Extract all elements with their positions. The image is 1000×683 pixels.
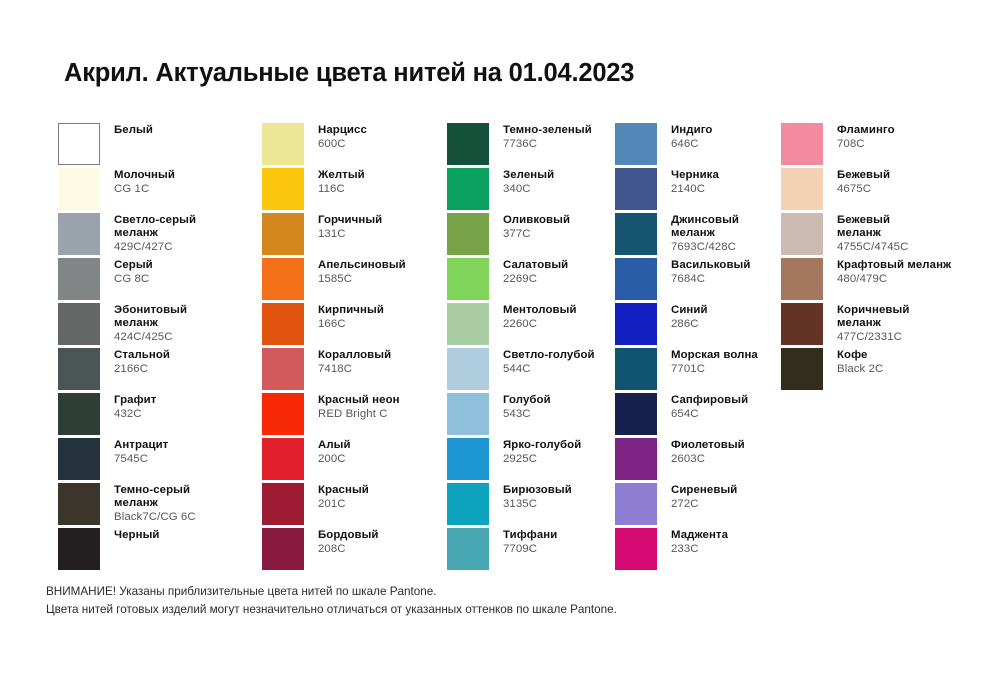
swatch-pantone-code: 4675C (837, 183, 890, 196)
swatch-name: Сиреневый (671, 484, 737, 497)
swatch-pantone-code: 340C (503, 183, 554, 196)
swatch-name: Салатовый (503, 259, 568, 272)
swatch-row[interactable]: Синий286C (615, 303, 781, 348)
swatch-name: Стальной (114, 349, 170, 362)
swatch-name: Васильковый (671, 259, 750, 272)
swatch-pantone-code: CG 1C (114, 183, 175, 196)
swatch-labels: Морская волна7701C (671, 348, 758, 376)
swatch-name: Оливковый (503, 214, 570, 227)
color-swatch[interactable] (781, 168, 823, 210)
color-swatch[interactable] (262, 348, 304, 390)
swatch-name: Бежевый меланж (837, 214, 908, 240)
swatch-name: Маджента (671, 529, 728, 542)
swatch-pantone-code: 2166C (114, 363, 170, 376)
swatch-labels: Ментоловый2260C (503, 303, 577, 331)
swatch-pantone-code: 3135C (503, 498, 572, 511)
swatch-labels: КофеBlack 2C (837, 348, 883, 376)
swatch-labels: Васильковый7684C (671, 258, 750, 286)
swatch-labels: Темно-зеленый7736C (503, 123, 592, 151)
color-swatch[interactable] (615, 258, 657, 300)
swatch-row[interactable]: Черника2140C (615, 168, 781, 213)
color-swatch[interactable] (447, 438, 489, 480)
swatch-name: Тиффани (503, 529, 557, 542)
swatch-row[interactable]: Темно-серый меланжBlack7C/CG 6C (58, 483, 262, 528)
swatch-labels: Индиго646C (671, 123, 712, 151)
swatch-row[interactable]: Нарцисс600C (262, 123, 447, 168)
swatch-pantone-code: 2269C (503, 273, 568, 286)
color-swatch[interactable] (781, 213, 823, 255)
swatch-name: Нарцисс (318, 124, 367, 137)
swatch-pantone-code: 544C (503, 363, 595, 376)
swatch-labels: Бежевый меланж4755C/4745C (837, 213, 908, 253)
color-swatch[interactable] (262, 123, 304, 165)
swatch-row[interactable]: Бежевый меланж4755C/4745C (781, 213, 981, 258)
footer-notice: ВНИМАНИЕ! Указаны приблизительные цвета … (46, 583, 617, 620)
swatch-labels: Джинсовый меланж7693C/428C (671, 213, 739, 253)
swatch-labels: Темно-серый меланжBlack7C/CG 6C (114, 483, 196, 523)
swatch-name: Бежевый (837, 169, 890, 182)
swatch-pantone-code: 7418C (318, 363, 391, 376)
swatch-row[interactable]: Кирпичный166C (262, 303, 447, 348)
color-swatch[interactable] (447, 348, 489, 390)
swatch-pantone-code: 233C (671, 543, 728, 556)
swatch-name: Черника (671, 169, 719, 182)
swatch-labels: СерыйCG 8C (114, 258, 153, 286)
swatch-labels: Коралловый7418C (318, 348, 391, 376)
swatch-labels: Тиффани7709C (503, 528, 557, 556)
swatch-row[interactable]: Красный неонRED Bright C (262, 393, 447, 438)
swatch-row[interactable]: Васильковый7684C (615, 258, 781, 303)
swatch-name: Ярко-голубой (503, 439, 581, 452)
swatch-labels: Светло-серый меланж429C/427C (114, 213, 196, 253)
swatch-row[interactable]: СерыйCG 8C (58, 258, 262, 303)
swatch-pantone-code: 7701C (671, 363, 758, 376)
swatch-pantone-code: 477C/2331C (837, 331, 909, 344)
swatch-row[interactable]: Бордовый208C (262, 528, 447, 573)
swatch-labels: Бордовый208C (318, 528, 379, 556)
swatch-row[interactable]: Сиреневый272C (615, 483, 781, 528)
swatch-row[interactable]: Фиолетовый2603C (615, 438, 781, 483)
swatch-row[interactable]: Ярко-голубой2925C (447, 438, 615, 483)
swatch-name: Графит (114, 394, 156, 407)
swatch-row[interactable]: Коралловый7418C (262, 348, 447, 393)
color-swatch[interactable] (781, 123, 823, 165)
swatch-pantone-code: 116C (318, 183, 365, 196)
swatch-pantone-code: 600C (318, 138, 367, 151)
swatch-labels: Нарцисс600C (318, 123, 367, 151)
swatch-name: Светло-серый меланж (114, 214, 196, 240)
swatch-row[interactable]: Зеленый340C (447, 168, 615, 213)
swatch-pantone-code: 7545C (114, 453, 168, 466)
color-swatch[interactable] (58, 303, 100, 345)
swatch-name: Фиолетовый (671, 439, 745, 452)
swatch-row[interactable]: Светло-голубой544C (447, 348, 615, 393)
swatch-row[interactable]: Тиффани7709C (447, 528, 615, 573)
swatch-pantone-code: Black 2C (837, 363, 883, 376)
swatch-name: Кофе (837, 349, 883, 362)
swatch-name: Эбонитовый меланж (114, 304, 187, 330)
swatch-labels: Ярко-голубой2925C (503, 438, 581, 466)
color-swatch[interactable] (58, 258, 100, 300)
color-swatch[interactable] (262, 213, 304, 255)
color-swatch[interactable] (58, 348, 100, 390)
swatch-labels: Красный неонRED Bright C (318, 393, 400, 421)
swatch-row[interactable]: Стальной2166C (58, 348, 262, 393)
color-chart-page: Акрил. Актуальные цвета нитей на 01.04.2… (0, 0, 1000, 683)
color-swatch[interactable] (615, 123, 657, 165)
swatch-name: Темно-серый меланж (114, 484, 196, 510)
color-swatch[interactable] (58, 168, 100, 210)
swatch-labels: Фламинго708C (837, 123, 895, 151)
color-swatch[interactable] (781, 348, 823, 390)
swatch-row[interactable]: Темно-зеленый7736C (447, 123, 615, 168)
swatch-labels: Коричневый меланж477C/2331C (837, 303, 909, 343)
swatch-name: Антрацит (114, 439, 168, 452)
swatch-labels: Красный201C (318, 483, 369, 511)
swatch-pantone-code: 272C (671, 498, 737, 511)
swatch-row[interactable]: Оливковый377C (447, 213, 615, 258)
swatch-pantone-code: 424C/425C (114, 331, 187, 344)
swatch-row[interactable]: Маджента233C (615, 528, 781, 573)
swatch-labels: Маджента233C (671, 528, 728, 556)
swatch-labels: Фиолетовый2603C (671, 438, 745, 466)
color-swatch[interactable] (615, 213, 657, 255)
swatch-row[interactable]: Красный201C (262, 483, 447, 528)
swatch-labels: Бежевый4675C (837, 168, 890, 196)
swatch-row[interactable]: Морская волна7701C (615, 348, 781, 393)
color-swatch[interactable] (615, 483, 657, 525)
swatch-pantone-code: Black7C/CG 6C (114, 511, 196, 524)
color-swatch[interactable] (262, 438, 304, 480)
swatch-pantone-code: 708C (837, 138, 895, 151)
color-swatch[interactable] (615, 168, 657, 210)
swatch-row[interactable]: Сапфировый654C (615, 393, 781, 438)
swatch-row[interactable]: Фламинго708C (781, 123, 981, 168)
swatch-pantone-code: 646C (671, 138, 712, 151)
color-swatch[interactable] (447, 303, 489, 345)
swatch-row[interactable]: Коричневый меланж477C/2331C (781, 303, 981, 348)
swatch-pantone-code: 166C (318, 318, 384, 331)
swatch-pantone-code: 200C (318, 453, 351, 466)
swatch-labels: Светло-голубой544C (503, 348, 595, 376)
color-swatch[interactable] (615, 393, 657, 435)
footer-line-1: ВНИМАНИЕ! Указаны приблизительные цвета … (46, 583, 617, 601)
swatch-labels: Кирпичный166C (318, 303, 384, 331)
swatch-name: Коричневый меланж (837, 304, 909, 330)
swatch-pantone-code: 2925C (503, 453, 581, 466)
swatch-name: Апельсиновый (318, 259, 406, 272)
swatch-column: Фламинго708CБежевый4675CБежевый меланж47… (781, 123, 981, 393)
color-swatch[interactable] (781, 303, 823, 345)
swatch-row[interactable]: Желтый116C (262, 168, 447, 213)
swatch-pantone-code: 201C (318, 498, 369, 511)
swatch-pantone-code: 208C (318, 543, 379, 556)
color-swatch[interactable] (262, 303, 304, 345)
swatch-pantone-code: 7684C (671, 273, 750, 286)
swatch-labels: Белый (114, 123, 153, 137)
swatch-labels: Сиреневый272C (671, 483, 737, 511)
swatch-row[interactable]: Алый200C (262, 438, 447, 483)
swatch-row[interactable]: Индиго646C (615, 123, 781, 168)
swatch-name: Зеленый (503, 169, 554, 182)
swatch-row[interactable]: Эбонитовый меланж424C/425C (58, 303, 262, 348)
color-swatch[interactable] (58, 438, 100, 480)
swatch-pantone-code: 429C/427C (114, 241, 196, 254)
swatch-name: Сапфировый (671, 394, 748, 407)
swatch-name: Бордовый (318, 529, 379, 542)
swatch-labels: Черника2140C (671, 168, 719, 196)
color-swatch[interactable] (262, 483, 304, 525)
color-swatch[interactable] (615, 528, 657, 570)
swatch-labels: Оливковый377C (503, 213, 570, 241)
swatch-name: Светло-голубой (503, 349, 595, 362)
swatch-column: Нарцисс600CЖелтый116CГорчичный131CАпельс… (262, 123, 447, 573)
swatch-pantone-code: 480/479C (837, 273, 951, 286)
swatch-labels: Антрацит7545C (114, 438, 168, 466)
swatch-name: Черный (114, 529, 160, 542)
swatch-pantone-code: 377C (503, 228, 570, 241)
swatch-labels: Графит432C (114, 393, 156, 421)
swatch-pantone-code: 7693C/428C (671, 241, 739, 254)
swatch-row[interactable]: Салатовый2269C (447, 258, 615, 303)
swatch-pantone-code: RED Bright C (318, 408, 400, 421)
swatch-labels: Апельсиновый1585C (318, 258, 406, 286)
swatch-row[interactable]: Бирюзовый3135C (447, 483, 615, 528)
color-swatch[interactable] (615, 438, 657, 480)
swatch-row[interactable]: Ментоловый2260C (447, 303, 615, 348)
swatch-row[interactable]: Апельсиновый1585C (262, 258, 447, 303)
swatch-labels: Синий286C (671, 303, 708, 331)
color-swatch[interactable] (447, 168, 489, 210)
swatch-name: Крафтовый меланж (837, 259, 951, 272)
swatch-labels: Алый200C (318, 438, 351, 466)
color-swatch[interactable] (615, 303, 657, 345)
swatch-name: Серый (114, 259, 153, 272)
swatch-row[interactable]: Горчичный131C (262, 213, 447, 258)
swatch-name: Ментоловый (503, 304, 577, 317)
color-swatch[interactable] (58, 393, 100, 435)
color-swatch[interactable] (262, 393, 304, 435)
color-swatch[interactable] (447, 483, 489, 525)
swatch-pantone-code: 2260C (503, 318, 577, 331)
swatch-name: Голубой (503, 394, 551, 407)
swatch-labels: Бирюзовый3135C (503, 483, 572, 511)
swatch-name: Красный неон (318, 394, 400, 407)
swatch-row[interactable]: Белый (58, 123, 262, 168)
swatch-labels: Желтый116C (318, 168, 365, 196)
swatch-row[interactable]: Голубой543C (447, 393, 615, 438)
swatch-name: Коралловый (318, 349, 391, 362)
swatch-name: Темно-зеленый (503, 124, 592, 137)
swatch-name: Красный (318, 484, 369, 497)
swatch-labels: Зеленый340C (503, 168, 554, 196)
swatch-labels: Эбонитовый меланж424C/425C (114, 303, 187, 343)
swatch-name: Кирпичный (318, 304, 384, 317)
swatch-column: Темно-зеленый7736CЗеленый340CОливковый37… (447, 123, 615, 573)
color-swatch[interactable] (58, 528, 100, 570)
footer-line-2: Цвета нитей готовых изделий могут незнач… (46, 601, 617, 619)
color-swatch[interactable] (447, 258, 489, 300)
swatch-pantone-code: 286C (671, 318, 708, 331)
swatch-name: Алый (318, 439, 351, 452)
swatch-pantone-code: 7736C (503, 138, 592, 151)
color-swatch[interactable] (615, 348, 657, 390)
color-swatch[interactable] (262, 528, 304, 570)
color-swatch[interactable] (262, 258, 304, 300)
color-swatch[interactable] (447, 213, 489, 255)
swatch-pantone-code: 432C (114, 408, 156, 421)
swatch-labels: Крафтовый меланж480/479C (837, 258, 951, 286)
swatch-pantone-code: 4755C/4745C (837, 241, 908, 254)
swatch-row[interactable]: Джинсовый меланж7693C/428C (615, 213, 781, 258)
swatch-labels: Салатовый2269C (503, 258, 568, 286)
swatch-column: Индиго646CЧерника2140CДжинсовый меланж76… (615, 123, 781, 573)
swatch-grid: БелыйМолочныйCG 1CСветло-серый меланж429… (58, 123, 988, 573)
swatch-name: Молочный (114, 169, 175, 182)
swatch-name: Индиго (671, 124, 712, 137)
swatch-pantone-code: 654C (671, 408, 748, 421)
swatch-pantone-code: 2603C (671, 453, 745, 466)
page-title: Акрил. Актуальные цвета нитей на 01.04.2… (64, 59, 634, 88)
swatch-row[interactable]: МолочныйCG 1C (58, 168, 262, 213)
swatch-labels: Стальной2166C (114, 348, 170, 376)
swatch-labels: Сапфировый654C (671, 393, 748, 421)
swatch-row[interactable]: КофеBlack 2C (781, 348, 981, 393)
color-swatch[interactable] (58, 123, 100, 165)
color-swatch[interactable] (447, 528, 489, 570)
swatch-name: Горчичный (318, 214, 382, 227)
swatch-name: Желтый (318, 169, 365, 182)
swatch-labels: Голубой543C (503, 393, 551, 421)
swatch-name: Бирюзовый (503, 484, 572, 497)
swatch-name: Синий (671, 304, 708, 317)
swatch-name: Морская волна (671, 349, 758, 362)
swatch-name: Белый (114, 124, 153, 137)
swatch-column: БелыйМолочныйCG 1CСветло-серый меланж429… (58, 123, 262, 573)
swatch-row[interactable]: Антрацит7545C (58, 438, 262, 483)
swatch-row[interactable]: Графит432C (58, 393, 262, 438)
color-swatch[interactable] (58, 213, 100, 255)
swatch-pantone-code: 7709C (503, 543, 557, 556)
swatch-pantone-code: 2140C (671, 183, 719, 196)
swatch-pantone-code: 1585C (318, 273, 406, 286)
swatch-row[interactable]: Черный (58, 528, 262, 573)
color-swatch[interactable] (447, 393, 489, 435)
swatch-row[interactable]: Крафтовый меланж480/479C (781, 258, 981, 303)
color-swatch[interactable] (447, 123, 489, 165)
swatch-pantone-code: 543C (503, 408, 551, 421)
color-swatch[interactable] (58, 483, 100, 525)
color-swatch[interactable] (781, 258, 823, 300)
swatch-pantone-code: CG 8C (114, 273, 153, 286)
swatch-name: Фламинго (837, 124, 895, 137)
swatch-row[interactable]: Светло-серый меланж429C/427C (58, 213, 262, 258)
swatch-row[interactable]: Бежевый4675C (781, 168, 981, 213)
swatch-name: Джинсовый меланж (671, 214, 739, 240)
swatch-labels: Черный (114, 528, 160, 542)
color-swatch[interactable] (262, 168, 304, 210)
swatch-labels: Горчичный131C (318, 213, 382, 241)
swatch-pantone-code: 131C (318, 228, 382, 241)
swatch-labels: МолочныйCG 1C (114, 168, 175, 196)
